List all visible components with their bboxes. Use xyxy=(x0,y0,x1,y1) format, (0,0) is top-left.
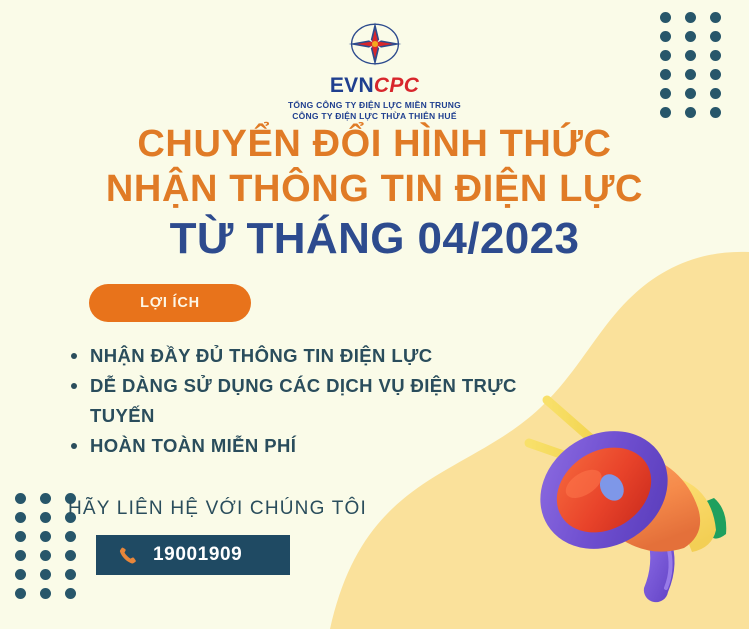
megaphone-cone xyxy=(541,430,667,549)
dot xyxy=(15,588,26,599)
evn-subtitle: TỔNG CÔNG TY ĐIỆN LỰC MIỀN TRUNG CÔNG TY… xyxy=(0,100,749,122)
evn-subtitle-line-2: CÔNG TY ĐIỆN LỰC THỪA THIÊN HUẾ xyxy=(0,111,749,122)
megaphone-handle xyxy=(644,536,675,602)
headline-date: TỪ THÁNG 04/2023 xyxy=(0,216,749,262)
phone-number: 19001909 xyxy=(153,544,242,566)
megaphone-rim xyxy=(530,419,678,560)
dot xyxy=(40,531,51,542)
sound-wave-line xyxy=(529,443,592,465)
megaphone-tail-ring xyxy=(704,498,726,539)
megaphone-body xyxy=(592,450,700,552)
megaphone-band xyxy=(644,478,716,552)
dot xyxy=(65,569,76,580)
evn-wordmark: EVNCPC xyxy=(0,75,749,96)
dot-grid-bottom-left xyxy=(15,493,76,607)
dot xyxy=(15,512,26,523)
headline-line-2: NHẬN THÔNG TIN ĐIỆN LỰC xyxy=(0,168,749,211)
evn-wordmark-secondary: CPC xyxy=(374,74,419,97)
sound-wave-line xyxy=(547,400,596,443)
dot xyxy=(40,512,51,523)
dot xyxy=(40,588,51,599)
dot xyxy=(65,531,76,542)
dot xyxy=(40,569,51,580)
dot xyxy=(15,493,26,504)
dot xyxy=(15,550,26,561)
benefits-pill-badge: LỢI ÍCH xyxy=(89,284,251,322)
evn-subtitle-line-1: TỔNG CÔNG TY ĐIỆN LỰC MIỀN TRUNG xyxy=(0,100,749,111)
dot xyxy=(65,588,76,599)
contact-label: HÃY LIÊN HỆ VỚI CHÚNG TÔI xyxy=(68,498,367,520)
evn-wordmark-primary: EVN xyxy=(330,74,374,97)
benefit-item: NHẬN ĐẦY ĐỦ THÔNG TIN ĐIỆN LỰC xyxy=(68,341,538,371)
phone-badge[interactable]: 19001909 xyxy=(96,535,290,575)
headline-line-1: CHUYỂN ĐỔI HÌNH THỨC xyxy=(0,123,749,166)
phone-handset-icon xyxy=(118,546,137,565)
benefit-item: HOÀN TOÀN MIỄN PHÍ xyxy=(68,431,538,461)
dot xyxy=(40,550,51,561)
evn-logo-block: EVNCPC TỔNG CÔNG TY ĐIỆN LỰC MIỀN TRUNG … xyxy=(0,14,749,122)
dot xyxy=(15,531,26,542)
dot xyxy=(40,493,51,504)
megaphone-center-hole xyxy=(595,470,628,505)
dot xyxy=(65,550,76,561)
evn-four-point-star-icon xyxy=(345,14,405,74)
poster-canvas: EVNCPC TỔNG CÔNG TY ĐIỆN LỰC MIỀN TRUNG … xyxy=(0,0,749,629)
dot xyxy=(15,569,26,580)
benefits-list: NHẬN ĐẦY ĐỦ THÔNG TIN ĐIỆN LỰC DỄ DÀNG S… xyxy=(68,341,538,461)
benefit-item: DỄ DÀNG SỬ DỤNG CÁC DỊCH VỤ ĐIỆN TRỰC TU… xyxy=(68,371,538,431)
